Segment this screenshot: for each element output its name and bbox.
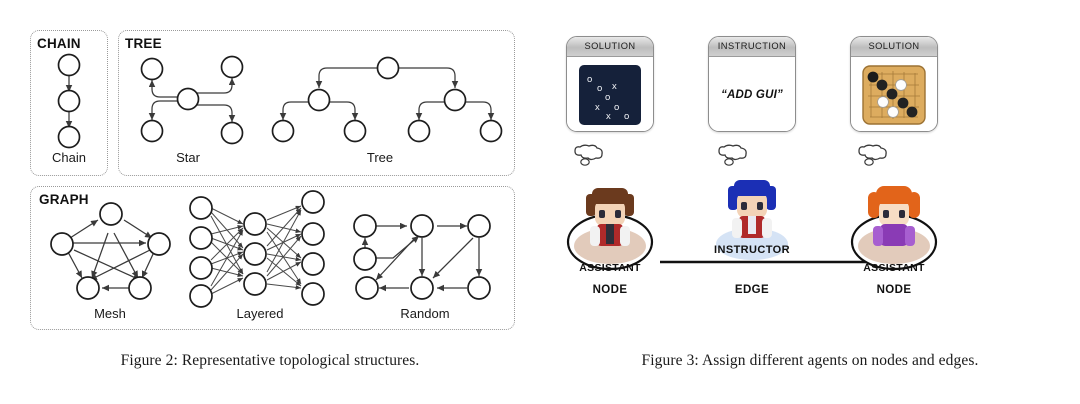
panel-body-xo-board: o o x o x o x o: [567, 57, 653, 132]
svg-text:o: o: [597, 83, 602, 94]
panel-header-label: SOLUTION: [567, 37, 653, 57]
topology-name-star: Star: [118, 150, 258, 165]
figures-page: CHAIN Chain TREE: [0, 0, 1080, 404]
topology-name-layered: Layered: [185, 306, 335, 321]
agent-sprite-assistant-right: [848, 174, 940, 266]
agent-role-label-middle: INSTRUCTOR: [692, 244, 812, 256]
mesh-graphic: [40, 186, 180, 316]
figure-3: SOLUTION o o x o x o x o: [540, 0, 1080, 404]
svg-text:x: x: [612, 81, 617, 92]
panel-instruction[interactable]: INSTRUCTION “ADD GUI”: [708, 36, 796, 132]
graph-part-label-middle: EDGE: [692, 284, 812, 296]
svg-text:o: o: [605, 92, 610, 103]
panel-solution-right[interactable]: SOLUTION: [850, 36, 938, 132]
graph-part-label-right: NODE: [848, 284, 940, 296]
agent-diagram: SOLUTION o o x o x o x o: [540, 22, 1080, 322]
topology-name-mesh: Mesh: [40, 306, 180, 321]
instruction-text: “ADD GUI”: [721, 89, 783, 101]
topology-name-tree: Tree: [310, 150, 450, 165]
xo-board-graphic: o o x o x o x o: [579, 65, 641, 125]
svg-text:x: x: [595, 102, 600, 113]
topology-diagram: CHAIN Chain TREE: [30, 30, 515, 330]
agent-role-label-left: ASSISTANT: [564, 262, 656, 274]
figure-2: CHAIN Chain TREE: [0, 0, 540, 404]
agent-sprite-assistant-left: [564, 174, 656, 266]
svg-text:o: o: [614, 102, 619, 113]
panel-header-label: INSTRUCTION: [709, 37, 795, 57]
agent-role-label-right: ASSISTANT: [848, 262, 940, 274]
layered-graphic: [185, 186, 335, 316]
panel-header-label: SOLUTION: [851, 37, 937, 57]
figure-2-caption: Figure 2: Representative topological str…: [0, 352, 540, 370]
go-board-graphic: [863, 66, 925, 124]
topology-name-chain: Chain: [30, 150, 108, 165]
thought-bubble-right: [854, 138, 894, 168]
panel-body-go-board: [851, 57, 937, 132]
panel-body-instruction-text: “ADD GUI”: [709, 57, 795, 132]
thought-bubble-middle: [714, 138, 754, 168]
panel-solution-left[interactable]: SOLUTION o o x o x o x o: [566, 36, 654, 132]
svg-text:o: o: [587, 74, 592, 85]
random-graphic: [345, 186, 505, 316]
thought-bubble-left: [570, 138, 610, 168]
figure-3-caption: Figure 3: Assign different agents on nod…: [540, 352, 1080, 370]
svg-text:o: o: [624, 111, 629, 122]
topology-name-random: Random: [345, 306, 505, 321]
graph-part-label-left: NODE: [564, 284, 656, 296]
svg-text:x: x: [606, 111, 611, 122]
